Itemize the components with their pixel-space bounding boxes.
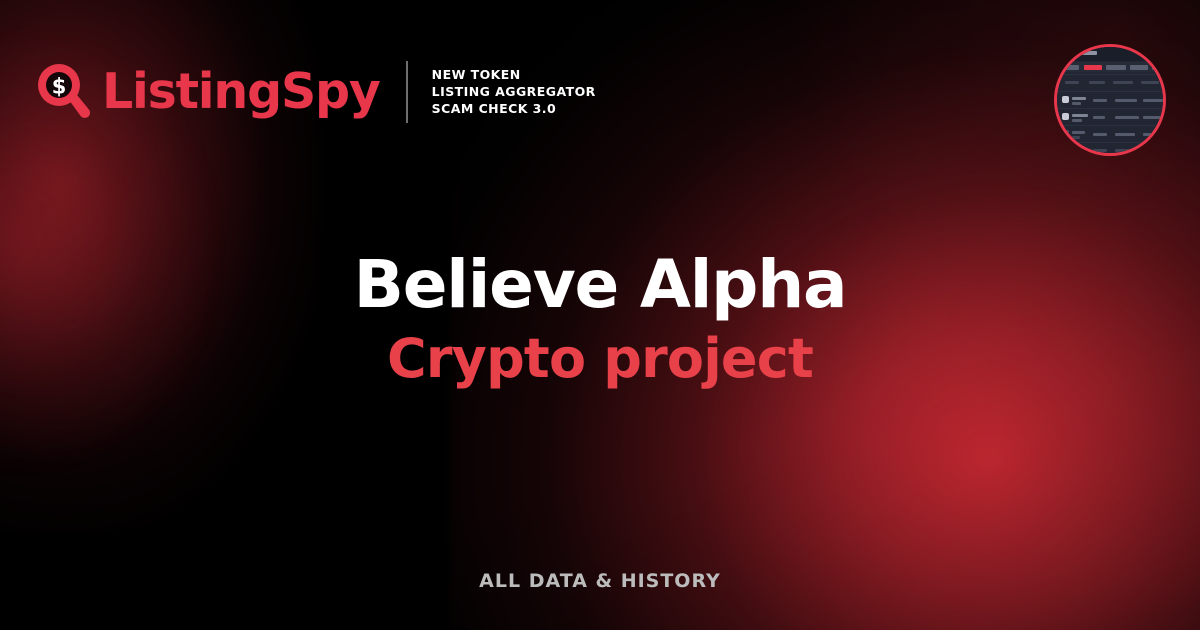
thumb-cell bbox=[1072, 136, 1080, 139]
thumb-cell bbox=[1143, 116, 1161, 119]
brand-tagline: NEW TOKEN LISTING AGGREGATOR SCAM CHECK … bbox=[432, 68, 596, 116]
headline-block: Believe Alpha Crypto project bbox=[0, 250, 1200, 388]
thumb-table-row bbox=[1057, 91, 1163, 109]
thumb-cell bbox=[1115, 149, 1133, 152]
tagline-line-3: SCAM CHECK 3.0 bbox=[432, 102, 596, 116]
tagline-line-1: NEW TOKEN bbox=[432, 68, 596, 82]
tagline-line-2: LISTING AGGREGATOR bbox=[432, 85, 596, 99]
thumb-col-head bbox=[1089, 81, 1105, 84]
page-title: Believe Alpha bbox=[0, 250, 1200, 320]
thumb-cell bbox=[1143, 149, 1159, 152]
thumb-menu-dot bbox=[1151, 51, 1155, 55]
thumb-token-icon bbox=[1062, 113, 1069, 120]
thumb-token-icon bbox=[1062, 130, 1069, 137]
thumb-cell bbox=[1072, 149, 1084, 152]
thumb-tab-active bbox=[1084, 65, 1102, 70]
thumb-col-head bbox=[1113, 81, 1133, 84]
thumb-table-header bbox=[1057, 74, 1163, 92]
dashboard-preview-thumbnail[interactable] bbox=[1054, 44, 1166, 156]
thumb-cell bbox=[1143, 133, 1163, 136]
thumb-cell bbox=[1143, 99, 1163, 102]
thumb-col-head bbox=[1141, 81, 1159, 84]
thumb-token-icon bbox=[1062, 96, 1069, 103]
page-subtitle: Crypto project bbox=[0, 330, 1200, 388]
logo-wordmark: ListingSpy bbox=[102, 67, 380, 116]
footer-caption: ALL DATA & HISTORY bbox=[0, 570, 1200, 592]
thumb-table-row bbox=[1057, 142, 1163, 153]
thumb-cell bbox=[1115, 99, 1137, 102]
thumb-cell bbox=[1093, 116, 1105, 119]
footer-block: ALL DATA & HISTORY bbox=[0, 570, 1200, 592]
thumb-tab bbox=[1130, 65, 1148, 70]
og-banner-canvas: $ ListingSpy NEW TOKEN LISTING AGGREGATO… bbox=[0, 0, 1200, 630]
thumb-cell bbox=[1093, 133, 1107, 136]
thumb-cell bbox=[1093, 99, 1107, 102]
thumbnail-dashboard-ui bbox=[1057, 47, 1163, 153]
thumb-cell bbox=[1072, 131, 1085, 134]
magnifier-dollar-icon: $ bbox=[36, 62, 92, 122]
thumb-table-row bbox=[1057, 108, 1163, 126]
header-divider bbox=[406, 61, 408, 123]
thumb-table bbox=[1057, 74, 1163, 153]
thumb-cell bbox=[1072, 102, 1081, 105]
thumb-cell bbox=[1072, 114, 1088, 117]
thumb-tab bbox=[1152, 65, 1163, 70]
svg-text:$: $ bbox=[52, 75, 67, 99]
thumb-tabbar bbox=[1057, 62, 1163, 72]
brand-header: $ ListingSpy NEW TOKEN LISTING AGGREGATO… bbox=[36, 56, 596, 128]
thumb-cell bbox=[1115, 116, 1139, 119]
thumb-cell bbox=[1072, 97, 1086, 100]
thumb-tab bbox=[1106, 65, 1126, 70]
thumb-col-head bbox=[1065, 81, 1079, 84]
thumb-logo-bar bbox=[1067, 51, 1097, 55]
thumb-cell bbox=[1072, 119, 1082, 122]
thumb-cell bbox=[1115, 133, 1135, 136]
thumb-cell bbox=[1093, 149, 1107, 152]
thumb-tab bbox=[1063, 65, 1079, 70]
thumb-table-row bbox=[1057, 125, 1163, 143]
